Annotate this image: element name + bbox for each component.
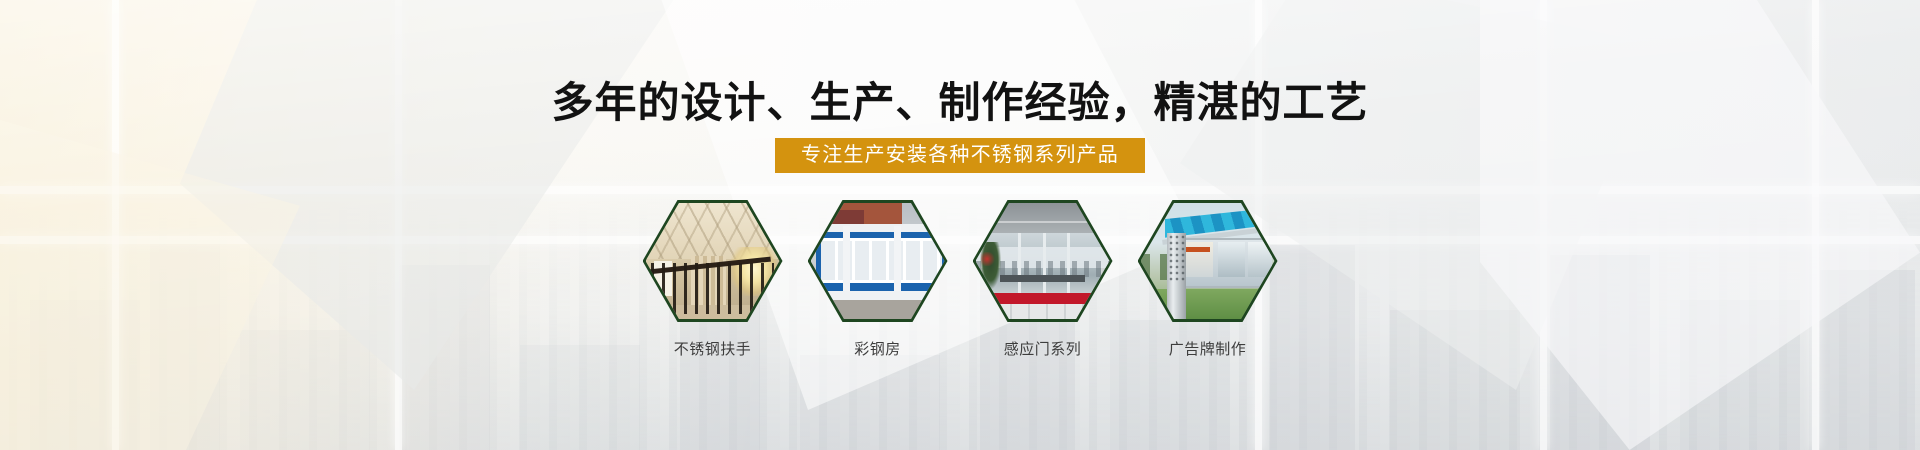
product-hexagon-row: 不锈钢扶手 彩钢房: [0, 200, 1920, 360]
stainless-steel-handrail-image: [646, 203, 780, 319]
banner-headline: 多年的设计、生产、制作经验，精湛的工艺: [0, 73, 1920, 133]
color-steel-room-image: [811, 203, 945, 319]
product-item-sensor-door[interactable]: 感应门系列: [973, 200, 1113, 360]
product-item-billboard[interactable]: 广告牌制作: [1138, 200, 1278, 360]
product-label-sensor-door: 感应门系列: [1004, 340, 1082, 360]
banner-subtitle-badge: 专注生产安装各种不锈钢系列产品: [775, 138, 1145, 173]
hexagon-thumbnail-billboard[interactable]: [1138, 200, 1278, 322]
billboard-image: [1141, 203, 1275, 319]
promo-banner: 多年的设计、生产、制作经验，精湛的工艺 专注生产安装各种不锈钢系列产品: [0, 0, 1920, 450]
product-label-color-steel-room: 彩钢房: [854, 340, 901, 360]
product-label-billboard: 广告牌制作: [1169, 340, 1247, 360]
hexagon-thumbnail-sensor-door[interactable]: [973, 200, 1113, 322]
banner-content: 多年的设计、生产、制作经验，精湛的工艺 专注生产安装各种不锈钢系列产品: [0, 0, 1920, 450]
banner-subtitle-wrap: 专注生产安装各种不锈钢系列产品: [0, 138, 1920, 173]
hexagon-thumbnail-handrail[interactable]: [643, 200, 783, 322]
product-item-handrail[interactable]: 不锈钢扶手: [643, 200, 783, 360]
hexagon-thumbnail-color-steel-room[interactable]: [808, 200, 948, 322]
product-item-color-steel-room[interactable]: 彩钢房: [808, 200, 948, 360]
sensor-door-image: [976, 203, 1110, 319]
product-label-handrail: 不锈钢扶手: [674, 340, 752, 360]
